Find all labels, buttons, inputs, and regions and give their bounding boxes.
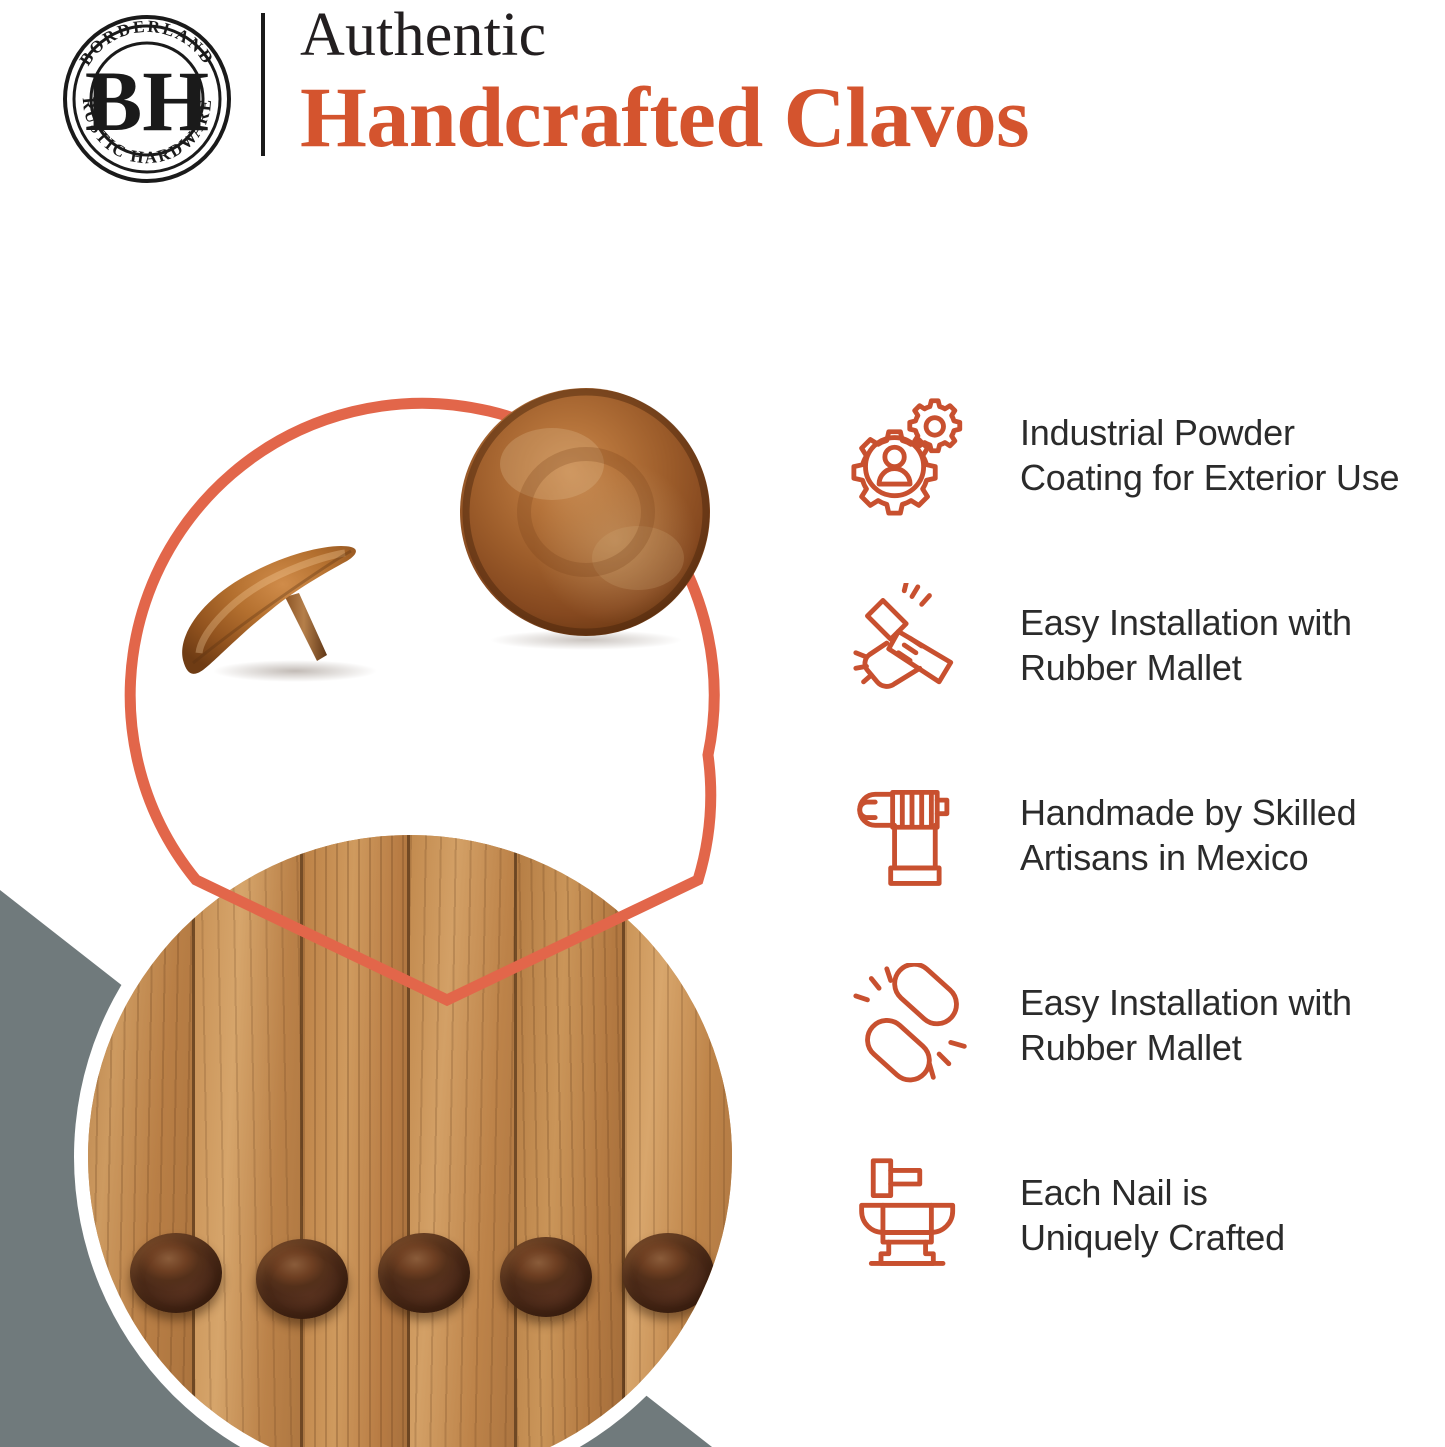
page-subtitle: Authentic [300, 4, 1029, 66]
chain-link-icon [848, 961, 976, 1089]
feature-item: Handmade by Skilled Artisans in Mexico [848, 740, 1445, 930]
feature-text: Handmade by Skilled Artisans in Mexico [1020, 790, 1356, 881]
feature-text-line1: Industrial Powder [1020, 410, 1399, 455]
feature-text: Each Nail is Uniquely Crafted [1020, 1170, 1285, 1261]
hand-wrench-icon [848, 771, 976, 899]
feature-item: Easy Installation with Rubber Mallet [848, 550, 1445, 740]
anvil-hammer-icon [848, 1151, 976, 1279]
feature-text-line1: Handmade by Skilled [1020, 790, 1356, 835]
feature-item: Easy Installation with Rubber Mallet [848, 930, 1445, 1120]
installed-clavos-photo [88, 835, 732, 1447]
feature-text-line2: Rubber Mallet [1020, 1025, 1352, 1070]
hand-mallet-icon [848, 581, 976, 709]
page-title: Handcrafted Clavos [300, 72, 1029, 162]
feature-text: Industrial Powder Coating for Exterior U… [1020, 410, 1399, 501]
feature-text-line1: Each Nail is [1020, 1170, 1285, 1215]
wood-planks [88, 835, 732, 1447]
feature-list: Industrial Powder Coating for Exterior U… [848, 360, 1445, 1310]
gear-person-icon [848, 391, 976, 519]
logo-monogram: BH [85, 53, 209, 149]
feature-text: Easy Installation with Rubber Mallet [1020, 600, 1352, 691]
infographic-canvas: BORDERLAND RUSTIC HARDWARE BH Authentic … [0, 0, 1445, 1447]
clavo-nail-head-photo [452, 382, 720, 652]
clavo-nail-side-photo [175, 485, 410, 685]
feature-text-line1: Easy Installation with [1020, 600, 1352, 645]
brand-logo: BORDERLAND RUSTIC HARDWARE BH [56, 8, 238, 190]
feature-text-line1: Easy Installation with [1020, 980, 1352, 1025]
header-titles: Authentic Handcrafted Clavos [300, 4, 1029, 162]
feature-text: Easy Installation with Rubber Mallet [1020, 980, 1352, 1071]
header: BORDERLAND RUSTIC HARDWARE BH Authentic … [0, 0, 1445, 205]
feature-text-line2: Artisans in Mexico [1020, 835, 1356, 880]
header-divider [261, 13, 265, 156]
feature-text-line2: Rubber Mallet [1020, 645, 1352, 690]
feature-item: Each Nail is Uniquely Crafted [848, 1120, 1445, 1310]
product-visual-column [0, 210, 800, 1447]
feature-text-line2: Uniquely Crafted [1020, 1215, 1285, 1260]
feature-text-line2: Coating for Exterior Use [1020, 455, 1399, 500]
feature-item: Industrial Powder Coating for Exterior U… [848, 360, 1445, 550]
